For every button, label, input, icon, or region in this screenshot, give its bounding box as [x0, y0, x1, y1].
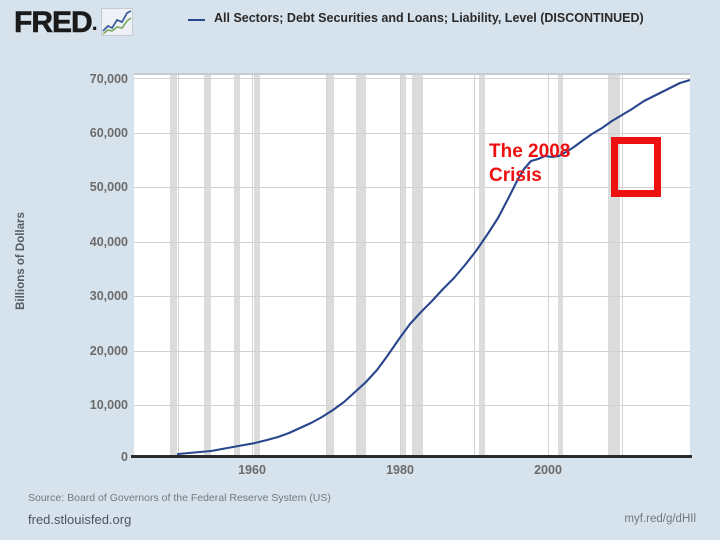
- fred-chart-screenshot: FRED . All Sectors; Debt Securities and …: [0, 0, 720, 540]
- source-note: Source: Board of Governors of the Federa…: [28, 492, 331, 504]
- legend-series-label: All Sectors; Debt Securities and Loans; …: [214, 10, 658, 27]
- plot-top-border: [134, 73, 690, 75]
- y-tick-label: 40,000: [10, 235, 128, 249]
- fred-site-link[interactable]: fred.stlouisfed.org: [28, 512, 131, 527]
- x-tick-label: 1980: [365, 463, 435, 477]
- y-axis-title: Billions of Dollars: [15, 186, 27, 336]
- data-series-line: [134, 73, 690, 456]
- y-tick-label: 10,000: [10, 398, 128, 412]
- y-tick-label: 70,000: [10, 72, 128, 86]
- chart-legend: All Sectors; Debt Securities and Loans; …: [188, 10, 658, 27]
- crisis-highlight-box: [611, 137, 661, 197]
- x-tick-label: 2000: [513, 463, 583, 477]
- short-url-link[interactable]: myf.red/g/dHIl: [624, 513, 696, 525]
- y-axis-ticks: 70,000 60,000 50,000 40,000 30,000 20,00…: [8, 0, 128, 540]
- y-tick-label: 0: [10, 450, 128, 464]
- plot-area: [134, 73, 690, 456]
- y-tick-label: 50,000: [10, 180, 128, 194]
- y-tick-label: 20,000: [10, 344, 128, 358]
- legend-color-swatch: [188, 19, 205, 21]
- crisis-annotation-label: The 2008 Crisis: [489, 140, 609, 188]
- y-tick-label: 60,000: [10, 126, 128, 140]
- x-axis-line: [131, 455, 692, 458]
- y-tick-label: 30,000: [10, 289, 128, 303]
- x-tick-label: 1960: [217, 463, 287, 477]
